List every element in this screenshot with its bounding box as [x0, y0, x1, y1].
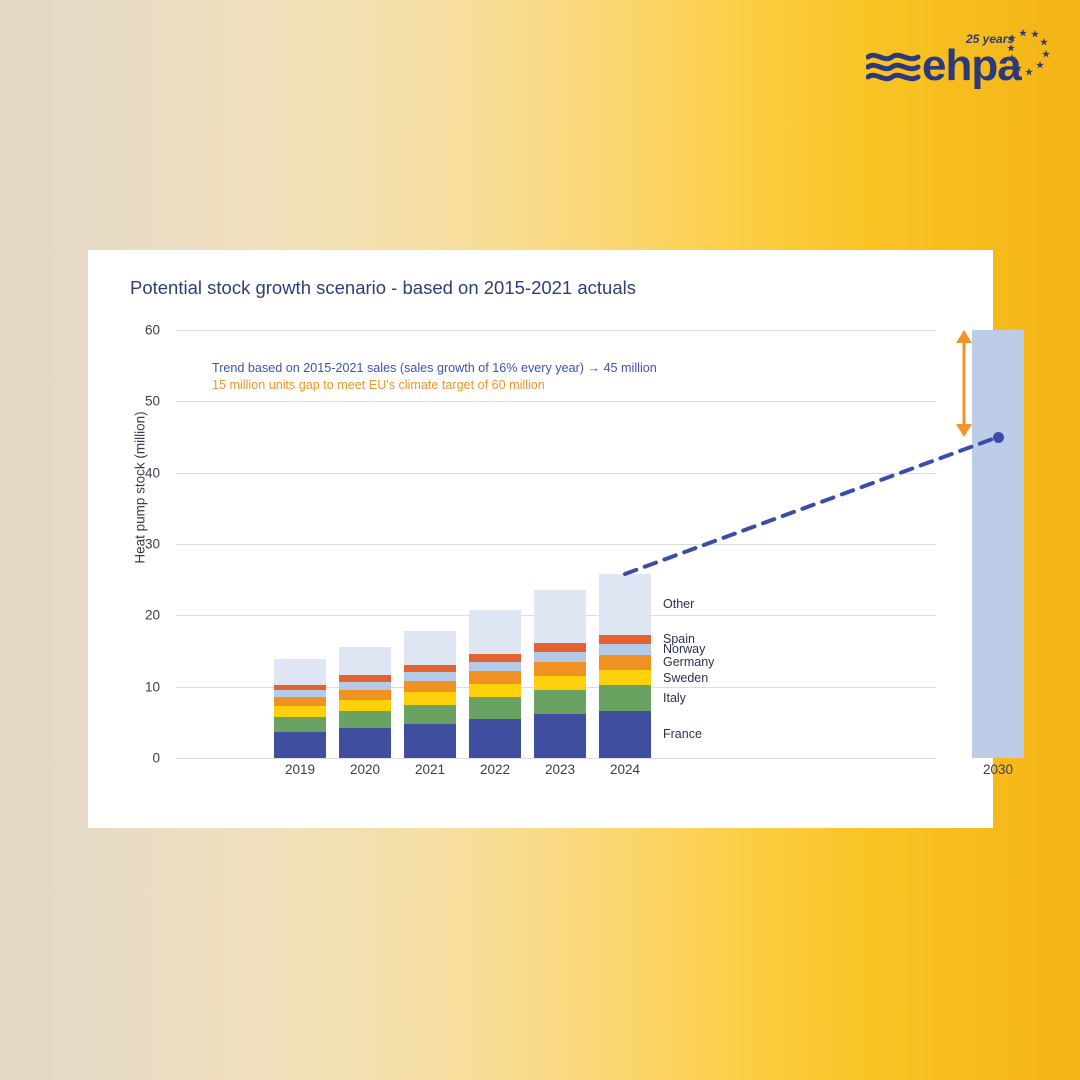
stacked-bar — [534, 330, 586, 758]
plot-area: 0102030405060 Heat pump stock (million) … — [88, 250, 993, 828]
bar-segment-france — [339, 728, 391, 758]
legend-label-france: France — [663, 727, 702, 741]
bar-segment-france — [469, 719, 521, 758]
trend-line — [625, 437, 993, 574]
x-tick-label: 2030 — [958, 762, 1038, 777]
bar-segment-spain — [469, 654, 521, 662]
bar-segment-sweden — [404, 692, 456, 705]
bar-segment-italy — [599, 685, 651, 711]
bar-segment-norway — [404, 672, 456, 681]
bar-segment-france — [274, 732, 326, 758]
bar-segment-other — [404, 631, 456, 665]
bar-segment-germany — [274, 697, 326, 706]
bar-segment-norway — [274, 690, 326, 697]
legend-label-other: Other — [663, 597, 694, 611]
stacked-bar — [469, 330, 521, 758]
bar-segment-sweden — [469, 684, 521, 698]
x-tick-label: 2024 — [585, 762, 665, 777]
bar-segment-italy — [469, 697, 521, 719]
bar-segment-spain — [274, 685, 326, 691]
bar-segment-other — [339, 647, 391, 676]
y-tick-label: 10 — [120, 679, 160, 694]
bar-segment-italy — [274, 717, 326, 733]
bar-segment-norway — [599, 644, 651, 655]
gap-annotation: 15 million units gap to meet EU's climat… — [212, 378, 545, 392]
bar-segment-france — [599, 711, 651, 758]
bar-segment-spain — [339, 675, 391, 681]
bar-segment-italy — [404, 705, 456, 724]
y-axis-label: Heat pump stock (million) — [133, 378, 148, 598]
legend-label-sweden: Sweden — [663, 671, 708, 685]
bar-segment-germany — [469, 671, 521, 684]
ehpa-logo: ehpa 25 years — [866, 26, 1036, 100]
bar-segment-france — [404, 724, 456, 758]
bar-2030-target — [972, 330, 1024, 758]
bar-segment-other — [599, 574, 651, 635]
bar-segment-sweden — [339, 700, 391, 711]
bar-segment-spain — [404, 665, 456, 672]
chart-card: Potential stock growth scenario - based … — [88, 250, 993, 828]
bar-segment-other — [534, 590, 586, 643]
bar-segment-other — [469, 610, 521, 654]
bar-segment-norway — [469, 662, 521, 671]
y-tick-label: 60 — [120, 323, 160, 338]
bar-segment-germany — [339, 690, 391, 700]
bar-segment-germany — [404, 681, 456, 692]
stacked-bar — [274, 330, 326, 758]
bar-segment-france — [534, 714, 586, 758]
gap-arrow-head-down — [956, 424, 972, 437]
stacked-bar — [339, 330, 391, 758]
gridline — [176, 758, 936, 759]
bar-segment-sweden — [274, 706, 326, 717]
bar-segment-italy — [339, 711, 391, 728]
bar-segment-spain — [599, 635, 651, 644]
legend-label-germany: Germany — [663, 655, 714, 669]
y-tick-label: 0 — [120, 751, 160, 766]
trend-endpoint-dot — [993, 432, 1004, 443]
bar-segment-norway — [339, 682, 391, 690]
bar-segment-sweden — [599, 670, 651, 685]
legend-label-spain: Spain — [663, 632, 695, 646]
y-tick-label: 20 — [120, 608, 160, 623]
bar-segment-sweden — [534, 676, 586, 690]
gap-arrow-head-up — [956, 330, 972, 343]
stacked-bar — [404, 330, 456, 758]
trend-annotation: Trend based on 2015-2021 sales (sales gr… — [212, 361, 657, 375]
legend-label-italy: Italy — [663, 691, 686, 705]
bar-segment-germany — [534, 662, 586, 676]
bar-segment-other — [274, 659, 326, 685]
bar-segment-norway — [534, 652, 586, 662]
bar-segment-germany — [599, 655, 651, 671]
bar-segment-spain — [534, 643, 586, 652]
wave-lines-icon — [866, 50, 922, 84]
eu-stars-icon — [998, 20, 1054, 84]
bar-segment-italy — [534, 690, 586, 714]
stacked-bar — [599, 330, 651, 758]
